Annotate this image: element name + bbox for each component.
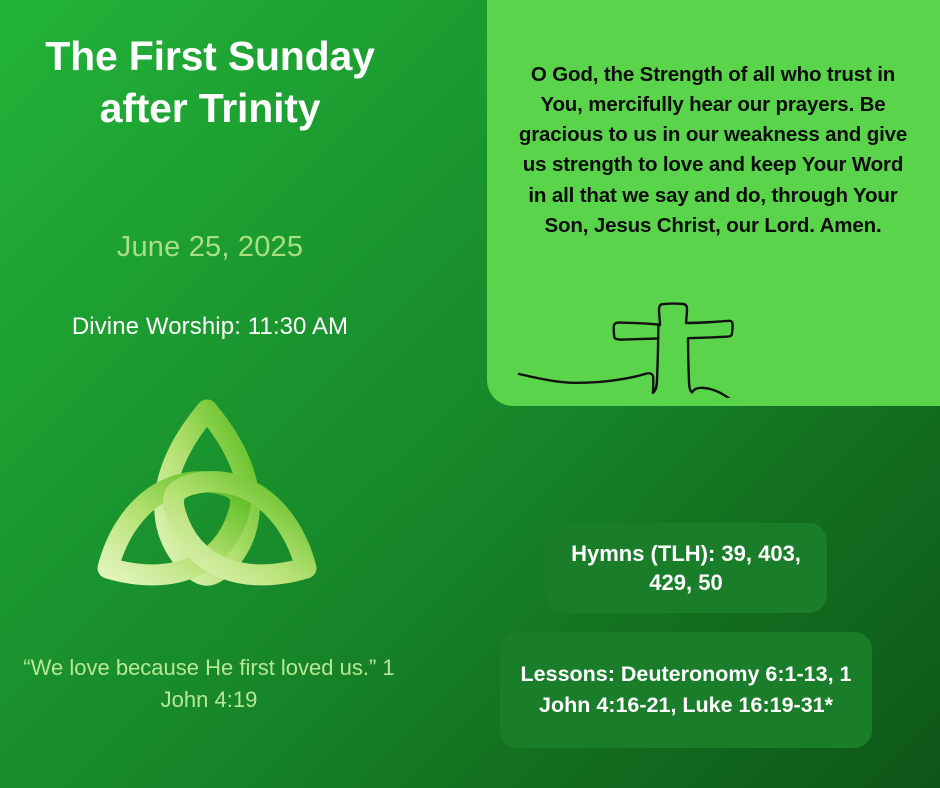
lessons-card: Lessons: Deuteronomy 6:1-13, 1 John 4:16… <box>500 632 872 748</box>
collect-prayer-text: O God, the Strength of all who trust in … <box>513 60 913 241</box>
scripture-verse: “We love because He first loved us.” 1 J… <box>14 652 404 716</box>
hymns-label: Hymns (TLH): 39, 403, 429, 50 <box>563 539 809 598</box>
service-time: Divine Worship: 11:30 AM <box>25 313 395 341</box>
service-announcement-poster: The First Sunday after Trinity June 25, … <box>0 0 940 788</box>
collect-prayer-panel: O God, the Strength of all who trust in … <box>487 0 940 406</box>
hymns-card: Hymns (TLH): 39, 403, 429, 50 <box>545 523 827 613</box>
service-date: June 25, 2025 <box>40 231 380 264</box>
lessons-label: Lessons: Deuteronomy 6:1-13, 1 John 4:16… <box>514 659 858 720</box>
cross-on-hill-icon <box>507 270 927 398</box>
page-title: The First Sunday after Trinity <box>40 30 380 135</box>
triquetra-icon <box>88 396 326 601</box>
